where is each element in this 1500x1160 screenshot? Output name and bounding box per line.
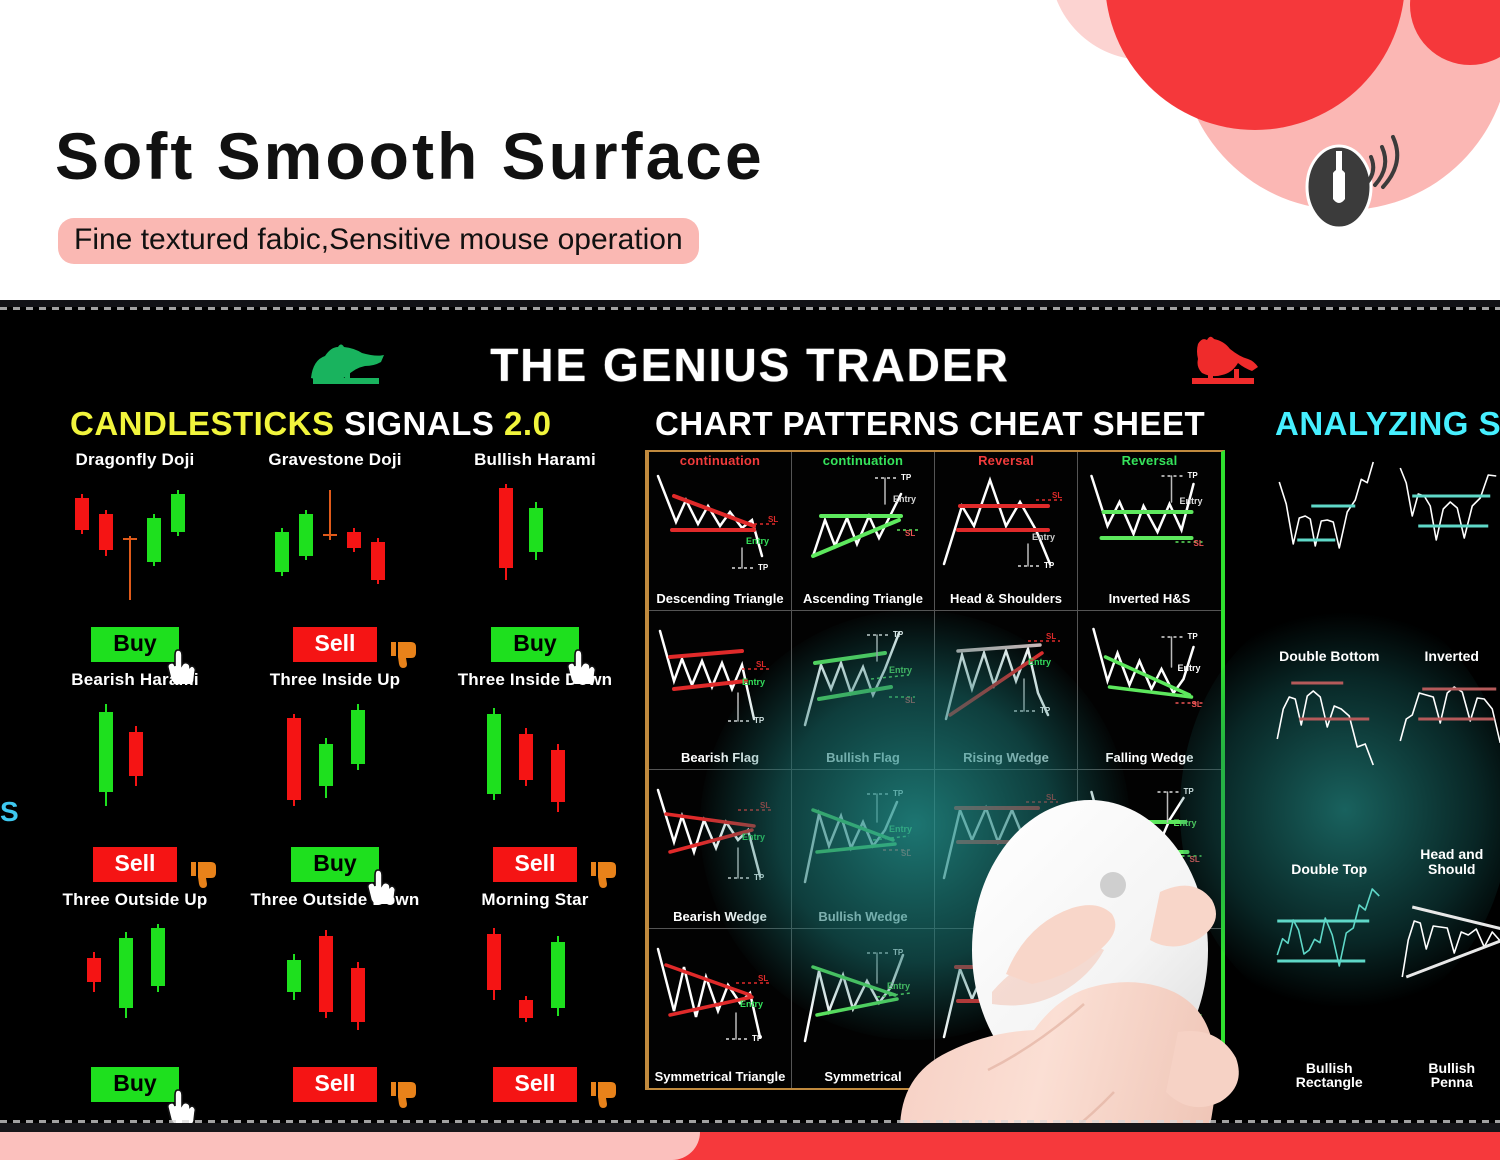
section-heading-candlesticks: CANDLESTICKS SIGNALS 2.0: [70, 405, 551, 443]
sell-button[interactable]: Sell: [293, 1067, 378, 1102]
chart-pattern-cell: SLEntryTPTriple Bottom: [1078, 770, 1221, 929]
chart-pattern-label: Falling Wedge: [1078, 750, 1221, 765]
candlestick-chart: [435, 480, 635, 610]
svg-text:TP: TP: [754, 873, 765, 882]
analysis-diagram: [1268, 881, 1391, 991]
chart-pattern-label: Triple Top: [935, 909, 1077, 924]
candlestick-pattern-cell: Three Outside UpBuy: [35, 890, 235, 1110]
chart-pattern-label: Bullish Flag: [792, 750, 934, 765]
candlestick-patterns-grid: Dragonfly DojiBuyGravestone DojiSellBull…: [35, 450, 635, 1110]
svg-text:Entry: Entry: [1174, 818, 1197, 828]
chart-pattern-cell: SLEntryTPTriple Top: [935, 770, 1078, 929]
candlestick-chart: [35, 920, 235, 1050]
pattern-diagram: SLEntryTP: [1078, 464, 1221, 579]
promo-title: Soft Smooth Surface: [55, 118, 765, 194]
pad-edge-top: [0, 300, 1500, 307]
promo-subtitle: Fine textured fabic,Sensitive mouse oper…: [74, 223, 683, 257]
svg-text:Entry: Entry: [1178, 663, 1201, 673]
pattern-diagram: SLEntryTP: [792, 464, 934, 579]
svg-text:SL: SL: [1190, 1014, 1200, 1023]
pattern-diagram: EntrySLTP: [792, 782, 934, 897]
section-heading-chart-patterns: CHART PATTERNS CHEAT SHEET: [655, 405, 1205, 443]
pad-edge-bottom: [0, 1123, 1500, 1132]
svg-text:SL: SL: [1194, 539, 1204, 548]
analysis-diagram: [1391, 881, 1500, 991]
chart-pattern-cell: SLEntryTPBearish Flag: [649, 611, 792, 770]
svg-text:TP: TP: [893, 948, 904, 957]
candlestick-pattern-label: Dragonfly Doji: [35, 450, 235, 470]
svg-text:TP: TP: [1184, 946, 1195, 955]
svg-text:TP: TP: [752, 1034, 763, 1043]
svg-text:TP: TP: [1040, 875, 1051, 884]
signal-area: Sell: [235, 627, 435, 662]
svg-text:TP: TP: [1188, 632, 1199, 641]
chart-pattern-cell: EntrySLTPBullish Flag: [792, 611, 935, 770]
sell-button[interactable]: Sell: [493, 847, 578, 882]
promo-banner: Soft Smooth Surface Fine textured fabic,…: [0, 0, 1500, 300]
analysis-diagram: [1391, 667, 1500, 777]
analyzing-pattern-label: Double Top: [1268, 862, 1391, 877]
analyzing-pattern-cell: Head and Should: [1391, 665, 1500, 878]
svg-text:TP: TP: [1044, 561, 1055, 570]
chart-pattern-label: Inverted H&S: [1078, 591, 1221, 606]
buy-button[interactable]: Buy: [291, 847, 378, 882]
analyzing-pattern-cell: Double Top: [1268, 665, 1391, 878]
section-heading-analyzing: ANALYZING ST: [1275, 405, 1500, 443]
svg-text:Entry: Entry: [742, 832, 765, 842]
chart-pattern-label: Symmetrical Triangle: [649, 1069, 791, 1084]
chart-pattern-label: Triple Top: [935, 1069, 1077, 1084]
analysis-diagram: [1268, 667, 1391, 777]
chart-pattern-cell: EntrySLTPBullish Wedge: [792, 770, 935, 929]
pad-stitching-top: [0, 307, 1500, 310]
svg-text:Entry: Entry: [746, 536, 769, 546]
wireless-mouse-icon: [1295, 125, 1405, 230]
chart-pattern-cell: SLEntryTPSymmetrical Triangle: [649, 929, 792, 1088]
svg-text:SL: SL: [760, 801, 770, 810]
svg-text:SL: SL: [1052, 491, 1062, 500]
candlestick-chart: [235, 480, 435, 610]
analyzing-pattern-label: Bullish Penna: [1391, 1061, 1500, 1090]
candlestick-chart: [35, 480, 235, 610]
chart-pattern-cell: SLEntryTPBearish Wedge: [649, 770, 792, 929]
svg-text:SL: SL: [768, 515, 778, 524]
candlestick-pattern-cell: Gravestone DojiSell: [235, 450, 435, 670]
heading-candlesticks-word: CANDLESTICKS: [70, 405, 335, 442]
analyzing-pattern-cell: Bullish Penna: [1391, 879, 1500, 1092]
analyzing-pattern-cell: Bullish Rectangle: [1268, 879, 1391, 1092]
svg-text:SL: SL: [1046, 793, 1056, 802]
svg-text:Entry: Entry: [1028, 657, 1051, 667]
pattern-diagram: SLEntryTP: [649, 782, 791, 897]
chart-pattern-cell: SLEntryTPFalling Wedge: [1078, 611, 1221, 770]
svg-text:SL: SL: [758, 974, 768, 983]
sell-button[interactable]: Sell: [293, 627, 378, 662]
candlestick-chart: [435, 920, 635, 1050]
candlestick-pattern-label: Three Inside Down: [435, 670, 635, 690]
candlestick-pattern-label: Bearish Harami: [35, 670, 235, 690]
svg-text:TP: TP: [893, 630, 904, 639]
thumbs-down-icon: [591, 1080, 617, 1108]
svg-text:Entry: Entry: [889, 665, 912, 675]
svg-text:Entry: Entry: [740, 999, 763, 1009]
green-bear-icon: [305, 340, 397, 388]
chart-pattern-label: Symmetrical: [792, 1069, 934, 1084]
svg-text:Entry: Entry: [1028, 846, 1051, 856]
candlestick-pattern-label: Morning Star: [435, 890, 635, 910]
cursor-hand-icon: [167, 1088, 197, 1124]
pattern-diagram: EntryTP: [792, 941, 934, 1056]
pattern-diagram: SLEntryTP: [649, 623, 791, 738]
candlestick-pattern-cell: Morning StarSell: [435, 890, 635, 1110]
svg-text:Entry: Entry: [1028, 1005, 1051, 1015]
candlestick-chart: [235, 700, 435, 830]
candlestick-pattern-cell: Bullish HaramiBuy: [435, 450, 635, 670]
svg-text:Entry: Entry: [742, 677, 765, 687]
candlestick-chart: [435, 700, 635, 830]
svg-text:TP: TP: [1188, 471, 1199, 480]
pattern-diagram: SLEntryTP: [649, 941, 791, 1056]
candlestick-pattern-label: Three Inside Up: [235, 670, 435, 690]
signal-area: Sell: [35, 847, 235, 882]
svg-text:TP: TP: [754, 716, 765, 725]
svg-text:TP: TP: [1040, 706, 1051, 715]
signal-area: Buy: [35, 1067, 235, 1102]
chart-patterns-panel: continuationSLEntryTPDescending Triangle…: [645, 450, 1225, 1090]
heading-signals-word: SIGNALS: [335, 405, 505, 442]
candlestick-chart: [235, 920, 435, 1050]
chart-pattern-label: Head & Shoulders: [935, 591, 1077, 606]
signal-area: Buy: [435, 627, 635, 662]
thumbs-down-icon: [191, 860, 217, 888]
buy-button[interactable]: Buy: [91, 1067, 178, 1102]
pad-title: THE GENIUS TRADER: [0, 338, 1500, 392]
chart-pattern-cell: ReversalSLEntryTPHead & Shoulders: [935, 452, 1078, 611]
svg-text:TP: TP: [1040, 1034, 1051, 1043]
candlestick-pattern-label: Bullish Harami: [435, 450, 635, 470]
svg-text:TP: TP: [758, 563, 769, 572]
svg-text:Entry: Entry: [887, 981, 910, 991]
buy-button[interactable]: Buy: [491, 627, 578, 662]
svg-text:SL: SL: [1046, 632, 1056, 641]
pattern-diagram: SLEntryTP: [649, 464, 791, 579]
analyzing-patterns-grid: Double BottomInvertedDouble TopHead and …: [1268, 452, 1500, 1092]
analyzing-pattern-label: Double Bottom: [1268, 649, 1391, 664]
buy-button[interactable]: Buy: [91, 627, 178, 662]
svg-text:Entry: Entry: [1180, 496, 1203, 506]
signal-area: Sell: [435, 1067, 635, 1102]
chart-pattern-cell: continuationSLEntryTPDescending Triangle: [649, 452, 792, 611]
svg-text:SL: SL: [1046, 952, 1056, 961]
chart-pattern-cell: ReversalSLEntryTPInverted H&S: [1078, 452, 1221, 611]
analyzing-pattern-cell: Inverted: [1391, 452, 1500, 665]
signal-area: Sell: [435, 847, 635, 882]
pattern-diagram: SLEntryTP: [1078, 623, 1221, 738]
pattern-diagram: EntrySLTP: [792, 623, 934, 738]
thumbs-down-icon: [591, 860, 617, 888]
svg-text:Entry: Entry: [889, 824, 912, 834]
chart-pattern-cell: SLEntryTPRising Wedge: [935, 611, 1078, 770]
sell-button[interactable]: Sell: [493, 1067, 578, 1102]
mousepad: THE GENIUS TRADER CANDLESTICKS SIGNALS 2…: [0, 300, 1500, 1132]
svg-text:SL: SL: [901, 849, 911, 858]
svg-text:SL: SL: [756, 660, 766, 669]
svg-text:SL: SL: [1190, 855, 1200, 864]
pattern-diagram: SLEntryTP: [935, 623, 1077, 738]
candlestick-pattern-label: Three Outside Up: [35, 890, 235, 910]
analyzing-pattern-label: Bullish Rectangle: [1268, 1061, 1391, 1090]
candlestick-pattern-cell: Three Inside UpBuy: [235, 670, 435, 890]
svg-text:TP: TP: [1184, 787, 1195, 796]
svg-text:TP: TP: [901, 473, 912, 482]
cut-off-letter: S: [0, 796, 19, 828]
pattern-diagram: SLEntryTP: [1078, 941, 1221, 1056]
chart-patterns-grid: continuationSLEntryTPDescending Triangle…: [649, 452, 1221, 1088]
signal-area: Buy: [35, 627, 235, 662]
promo-subtitle-pill: Fine textured fabic,Sensitive mouse oper…: [58, 218, 699, 264]
analyzing-pattern-label: Inverted: [1391, 649, 1500, 664]
svg-text:Entry: Entry: [1032, 532, 1055, 542]
chart-pattern-label: Bearish Flag: [649, 750, 791, 765]
candlestick-pattern-label: Three Outside Down: [235, 890, 435, 910]
signal-area: Sell: [235, 1067, 435, 1102]
thumbs-down-icon: [391, 1080, 417, 1108]
svg-text:SL: SL: [905, 696, 915, 705]
svg-text:SL: SL: [905, 529, 915, 538]
signal-area: Buy: [235, 847, 435, 882]
chart-pattern-label: Triple Bottom: [1078, 909, 1221, 924]
sell-button[interactable]: Sell: [93, 847, 178, 882]
chart-pattern-label: Ascending Triangle: [792, 591, 934, 606]
chart-pattern-label: Descending Triangle: [649, 591, 791, 606]
analyzing-pattern-cell: Double Bottom: [1268, 452, 1391, 665]
chart-pattern-cell: SLEntryTPTriple Top: [935, 929, 1078, 1088]
analysis-diagram: [1268, 454, 1391, 564]
bottom-band-pink: [0, 1132, 700, 1160]
thumbs-down-icon: [391, 640, 417, 668]
chart-pattern-label: Bearish Wedge: [649, 909, 791, 924]
svg-text:SL: SL: [1192, 700, 1202, 709]
analysis-diagram: [1391, 454, 1500, 564]
candlestick-chart: [35, 700, 235, 830]
chart-pattern-label: Rising Wedge: [935, 750, 1077, 765]
chart-pattern-cell: continuationSLEntryTPAscending Triangle: [792, 452, 935, 611]
heading-version: 2.0: [504, 405, 551, 442]
pattern-diagram: SLEntryTP: [935, 464, 1077, 579]
chart-pattern-label: Triple Bottom: [1078, 1069, 1221, 1084]
pattern-diagram: SLEntryTP: [1078, 782, 1221, 897]
svg-text:Entry: Entry: [893, 494, 916, 504]
svg-text:TP: TP: [893, 789, 904, 798]
pattern-diagram: SLEntryTP: [935, 782, 1077, 897]
candlestick-pattern-cell: Three Outside DownSell: [235, 890, 435, 1110]
pad-header: THE GENIUS TRADER: [0, 338, 1500, 398]
candlestick-pattern-label: Gravestone Doji: [235, 450, 435, 470]
pattern-diagram: SLEntryTP: [935, 941, 1077, 1056]
chart-pattern-cell: EntryTPSymmetrical: [792, 929, 935, 1088]
candlestick-pattern-cell: Three Inside DownSell: [435, 670, 635, 890]
chart-pattern-cell: SLEntryTPTriple Bottom: [1078, 929, 1221, 1088]
candlestick-pattern-cell: Bearish HaramiSell: [35, 670, 235, 890]
chart-pattern-label: Bullish Wedge: [792, 909, 934, 924]
candlestick-pattern-cell: Dragonfly DojiBuy: [35, 450, 235, 670]
analyzing-pattern-label: Head and Should: [1391, 847, 1500, 876]
red-bull-icon: [1178, 336, 1266, 388]
svg-text:Entry: Entry: [1174, 977, 1197, 987]
